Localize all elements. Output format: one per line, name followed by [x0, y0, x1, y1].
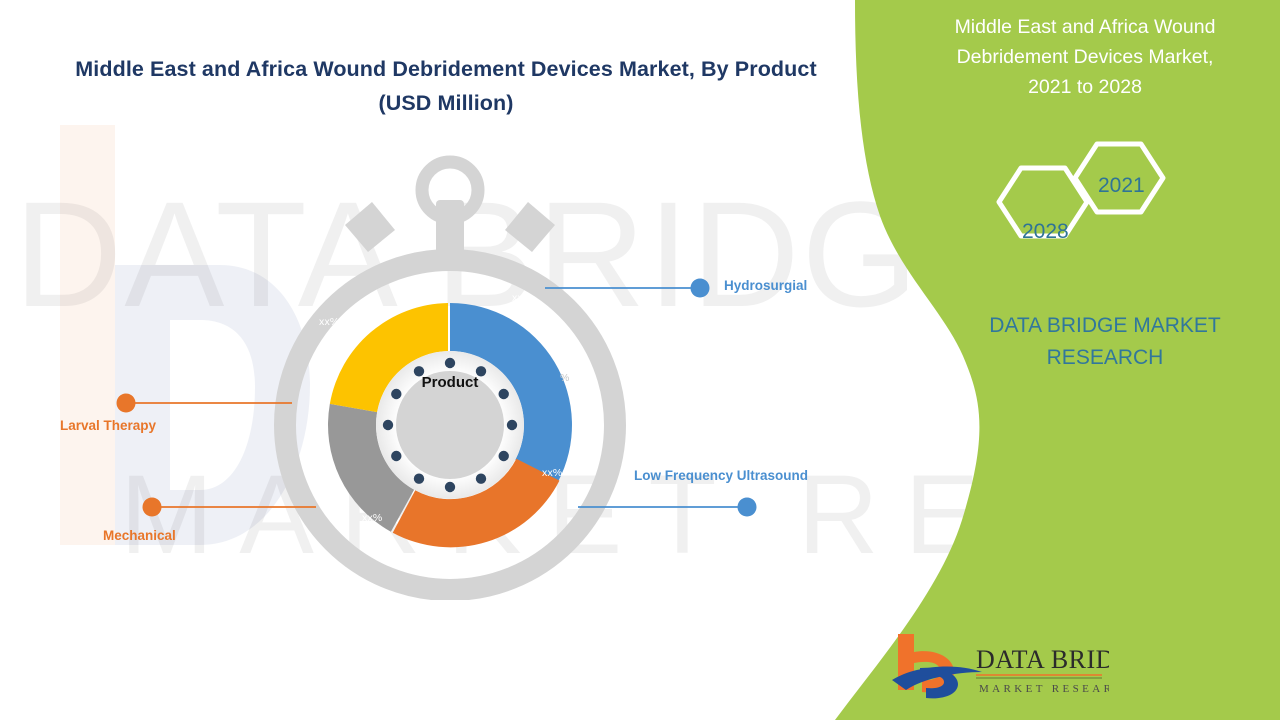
panel-title-line-3: 2021 to 2028 — [905, 72, 1265, 102]
callout-label-mechanical[interactable]: Mechanical — [103, 528, 176, 543]
panel-title: Middle East and Africa Wound Debridement… — [905, 12, 1265, 102]
panel-brand-line-1: DATA BRIDGE MARKET — [950, 310, 1260, 342]
percent-label-hydrosurgial: xx% — [512, 292, 532, 304]
percent-label-partial: % — [560, 372, 570, 384]
donut-chart — [240, 140, 660, 600]
panel-title-line-2: Debridement Devices Market, — [905, 42, 1265, 72]
panel-title-line-1: Middle East and Africa Wound — [905, 12, 1265, 42]
hexagon-shapes-icon — [975, 140, 1185, 290]
logo-title: DATA BRIDGE — [976, 645, 1109, 674]
hexagon-label-2028: 2028 — [1022, 220, 1069, 244]
stopwatch-crown-icon — [422, 162, 478, 258]
callout-label-hydrosurgial[interactable]: Hydrosurgial — [724, 278, 807, 293]
percent-label-mechanical: xx% — [362, 512, 382, 524]
infographic-canvas: DATA BRIDGE MARKET RESEARCH Middle East … — [0, 0, 1280, 720]
page-title: Middle East and Africa Wound Debridement… — [46, 52, 846, 120]
hexagon-label-2021: 2021 — [1098, 174, 1145, 198]
databridge-logo: DATA BRIDGE MARKET RESEARCH — [884, 628, 1109, 706]
logo-subtitle: MARKET RESEARCH — [979, 683, 1109, 695]
hexagon-group — [975, 140, 1185, 290]
percent-label-low-frequency-ultrasound: xx% — [542, 467, 562, 479]
callout-label-low-frequency-ultrasound[interactable]: Low Frequency Ultrasound — [634, 468, 808, 483]
page-title-line-2: (USD Million) — [46, 86, 846, 120]
page-title-line-1: Middle East and Africa Wound Debridement… — [46, 52, 846, 86]
percent-label-larval-therapy: xx% — [319, 316, 339, 328]
panel-brand-name: DATA BRIDGE MARKET RESEARCH — [950, 310, 1260, 374]
panel-brand-line-2: RESEARCH — [950, 342, 1260, 374]
chart-center-disc — [396, 371, 504, 479]
callout-label-larval-therapy[interactable]: Larval Therapy — [60, 418, 156, 433]
